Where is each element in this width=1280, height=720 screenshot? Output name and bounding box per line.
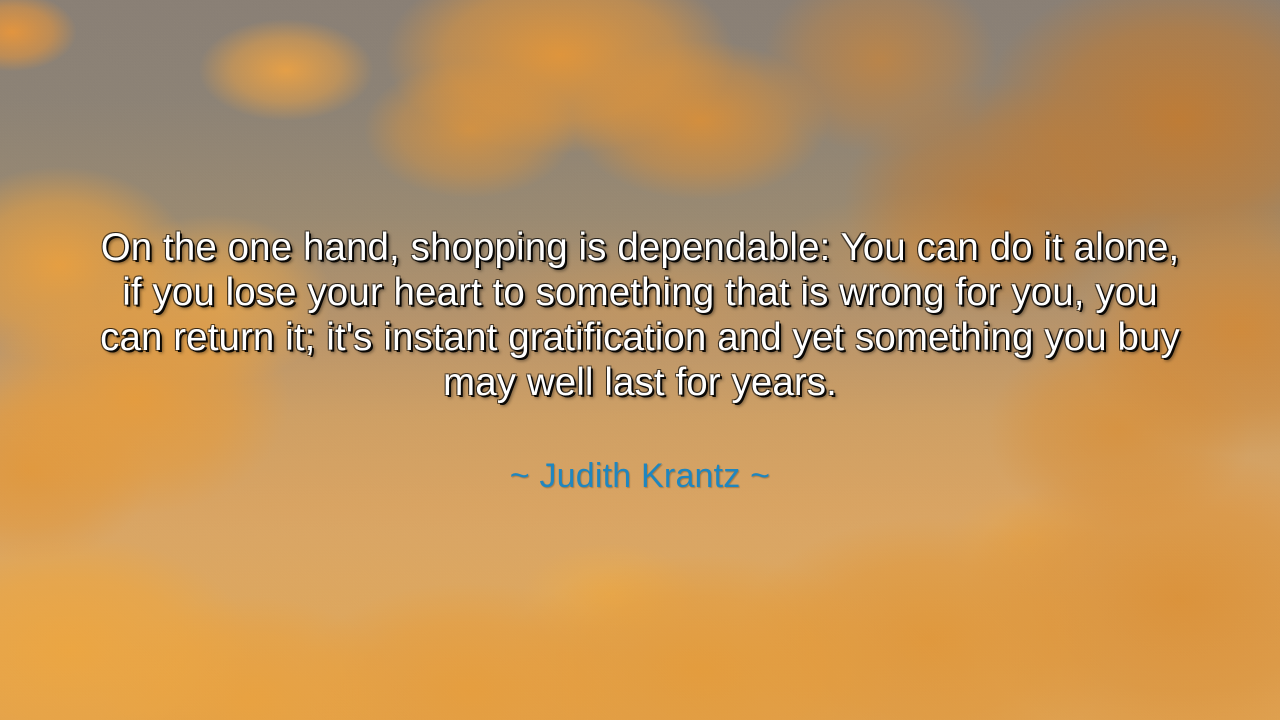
quote-text: On the one hand, shopping is dependable:… <box>96 225 1184 405</box>
quote-image-canvas: On the one hand, shopping is dependable:… <box>0 0 1280 720</box>
quote-author-attribution: ~ Judith Krantz ~ <box>510 405 770 495</box>
quote-content-block: On the one hand, shopping is dependable:… <box>0 0 1280 720</box>
